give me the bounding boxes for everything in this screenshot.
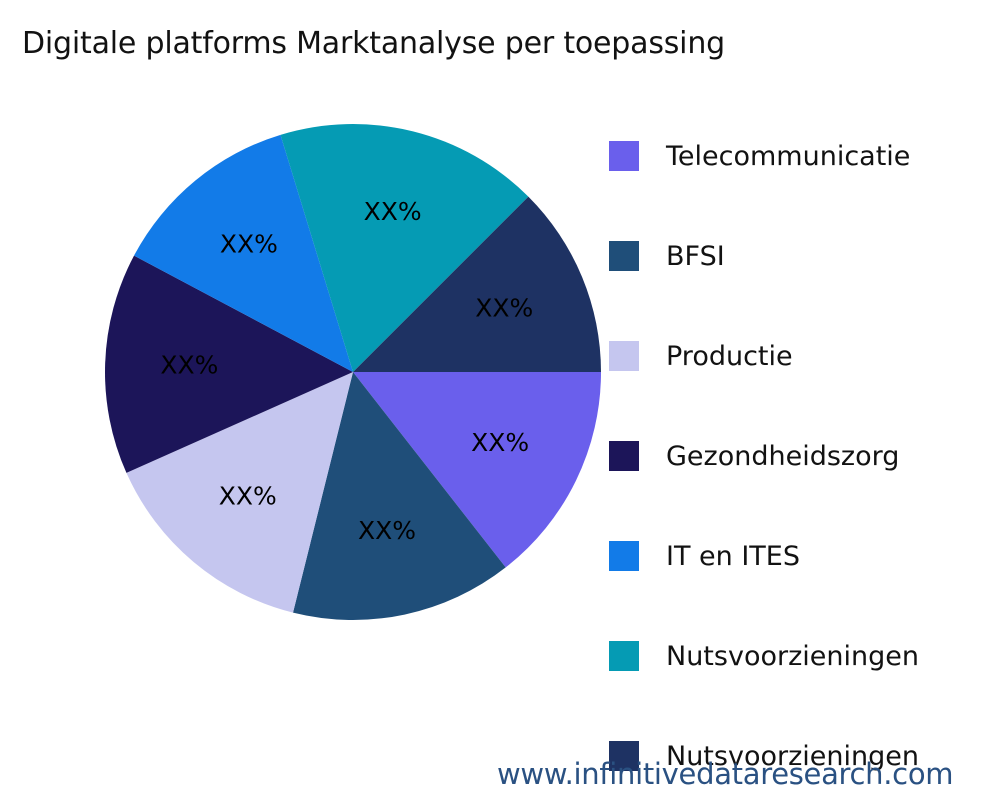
pie-slice-label: XX%	[471, 428, 529, 457]
pie-chart-svg: XX%XX%XX%XX%XX%XX%XX%	[0, 0, 620, 760]
legend-item[interactable]: Nutsvoorzieningen	[609, 706, 999, 806]
pie-chart-container: XX%XX%XX%XX%XX%XX%XX%	[0, 0, 620, 760]
legend-item[interactable]: Nutsvoorzieningen	[609, 606, 999, 706]
legend-swatch-icon	[609, 641, 639, 671]
legend-swatch-icon	[609, 541, 639, 571]
legend-item-label: BFSI	[666, 243, 725, 270]
chart-page: Digitale platforms Marktanalyse per toep…	[0, 0, 1000, 800]
pie-slice-label: XX%	[160, 350, 218, 379]
legend-swatch-icon	[609, 141, 639, 171]
legend-item-label: Telecommunicatie	[666, 143, 910, 170]
legend-item[interactable]: IT en ITES	[609, 506, 999, 606]
pie-slice-label: XX%	[358, 516, 416, 545]
legend-item-label: Productie	[666, 343, 793, 370]
legend-swatch-icon	[609, 341, 639, 371]
legend-item[interactable]: Productie	[609, 306, 999, 406]
pie-slice-label: XX%	[219, 481, 277, 510]
pie-slice-label: XX%	[475, 293, 533, 322]
pie-slice-label: XX%	[364, 197, 422, 226]
legend-item-label: IT en ITES	[666, 543, 800, 570]
legend-swatch-icon	[609, 241, 639, 271]
legend: TelecommunicatieBFSIProductieGezondheids…	[609, 106, 999, 806]
footer-url[interactable]: www.infinitivedataresearch.com	[497, 757, 953, 791]
legend-item-label: Gezondheidszorg	[666, 443, 899, 470]
legend-item[interactable]: Gezondheidszorg	[609, 406, 999, 506]
legend-item[interactable]: Telecommunicatie	[609, 106, 999, 206]
legend-item[interactable]: BFSI	[609, 206, 999, 306]
pie-slice-label: XX%	[220, 230, 278, 259]
legend-item-label: Nutsvoorzieningen	[666, 643, 919, 670]
legend-swatch-icon	[609, 441, 639, 471]
